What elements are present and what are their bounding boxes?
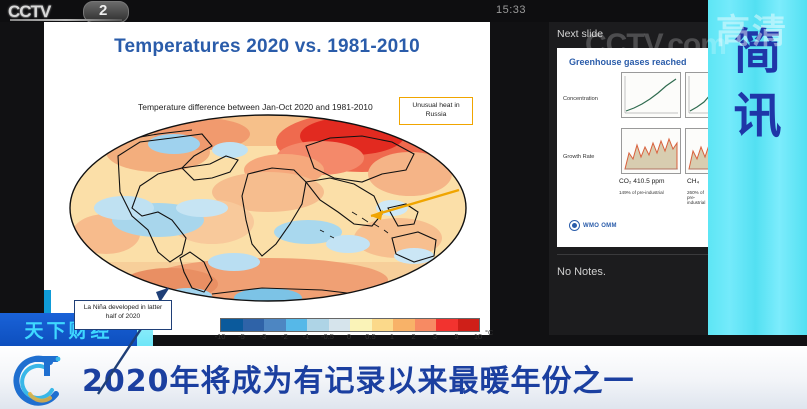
colorbar-unit-label: °C [485, 328, 493, 337]
colorbar-swatch-4 [307, 319, 329, 331]
thumbnail-value-co2: CO₂ 410.5 ppm [619, 178, 664, 185]
logo-underline [10, 19, 122, 21]
colorbar-tick-0.5: 0.5 [365, 332, 375, 341]
colorbar-tick--2: -2 [281, 332, 288, 341]
colorbar-swatch-5 [329, 319, 351, 331]
notes-divider [557, 254, 708, 255]
colorbar-tick--3: -3 [260, 332, 267, 341]
side-band-char-2: 讯 [708, 92, 807, 140]
colorbar-tick--10: -10 [215, 332, 226, 341]
thumbnail-row-label-concentration: Concentration [563, 96, 598, 102]
colorbar-swatch-3 [286, 319, 308, 331]
cctv-logo: CCTV 2 [8, 2, 133, 21]
top-bar: CCTV 2 15:33 [0, 0, 807, 22]
colorbar-swatch-0 [221, 319, 243, 331]
thumbnail-row-label-growth-rate: Growth Rate [563, 154, 594, 160]
colorbar-swatch-11 [458, 319, 480, 331]
mini-chart-co2-concentration [621, 72, 681, 118]
channel-number: 2 [99, 2, 107, 19]
thumbnail-note-ch4: 260% of pre-industrial [687, 190, 708, 205]
colorbar-tick-5: 5 [454, 332, 458, 341]
clock: 15:33 [496, 4, 526, 16]
colorbar-tick-1: 1 [390, 332, 394, 341]
presentation-slide[interactable]: Temperatures 2020 vs. 1981-2010 Temperat… [44, 22, 490, 335]
mini-chart-co2-growth-rate [621, 128, 681, 174]
colorbar-tick--5: -5 [238, 332, 245, 341]
colorbar-swatch-10 [436, 319, 458, 331]
cctv-watermark: CCTV.com [585, 28, 726, 62]
world-temperature-anomaly-map [62, 112, 474, 308]
lanina-callout-arrow [90, 276, 200, 402]
colorbar-swatch-8 [393, 319, 415, 331]
slide-subtitle: Temperature difference between Jan-Oct 2… [138, 102, 373, 112]
channel-swoosh-logo [6, 350, 76, 408]
notes-text: No Notes. [557, 266, 606, 278]
colorbar-tick-0: 0 [347, 332, 351, 341]
colorbar-tick-10: 10 [474, 332, 482, 341]
wmo-logo: WMO OMM [569, 220, 617, 231]
colorbar-tick-labels: -10-5-3-2-1-0.500.5123510 [212, 332, 492, 344]
colorbar-swatch-7 [372, 319, 394, 331]
slide-title: Temperatures 2020 vs. 1981-2010 [44, 36, 490, 58]
broadcast-screen: CCTV 2 15:33 Temperatures 2020 vs. 1981-… [0, 0, 807, 409]
wmo-emblem-icon [569, 220, 580, 231]
callout-unusual-heat-russia: Unusual heat in Russia [399, 97, 473, 125]
temperature-colorbar [220, 318, 480, 332]
callout-la-nina: La Niña developed in latter half of 2020 [74, 300, 172, 330]
colorbar-tick-2: 2 [411, 332, 415, 341]
colorbar-tick--1: -1 [303, 332, 310, 341]
colorbar-swatch-9 [415, 319, 437, 331]
hd-watermark: 高清 [716, 4, 807, 56]
colorbar-swatch-6 [350, 319, 372, 331]
thumbnail-value-ch4: CH₄ [687, 178, 699, 185]
next-slide-thumbnail[interactable]: Greenhouse gases reached Concentration G… [557, 48, 708, 247]
thumbnail-note-co2: 149% of pre-industrial [619, 190, 664, 195]
russia-callout-arrow [347, 180, 467, 226]
colorbar-tick-3: 3 [433, 332, 437, 341]
colorbar-swatch-1 [243, 319, 265, 331]
colorbar-tick--0.5: -0.5 [321, 332, 334, 341]
wmo-logo-text: WMO OMM [583, 223, 617, 229]
presenter-pane: Next slide Greenhouse gases reached Conc… [549, 22, 708, 335]
colorbar-swatch-2 [264, 319, 286, 331]
